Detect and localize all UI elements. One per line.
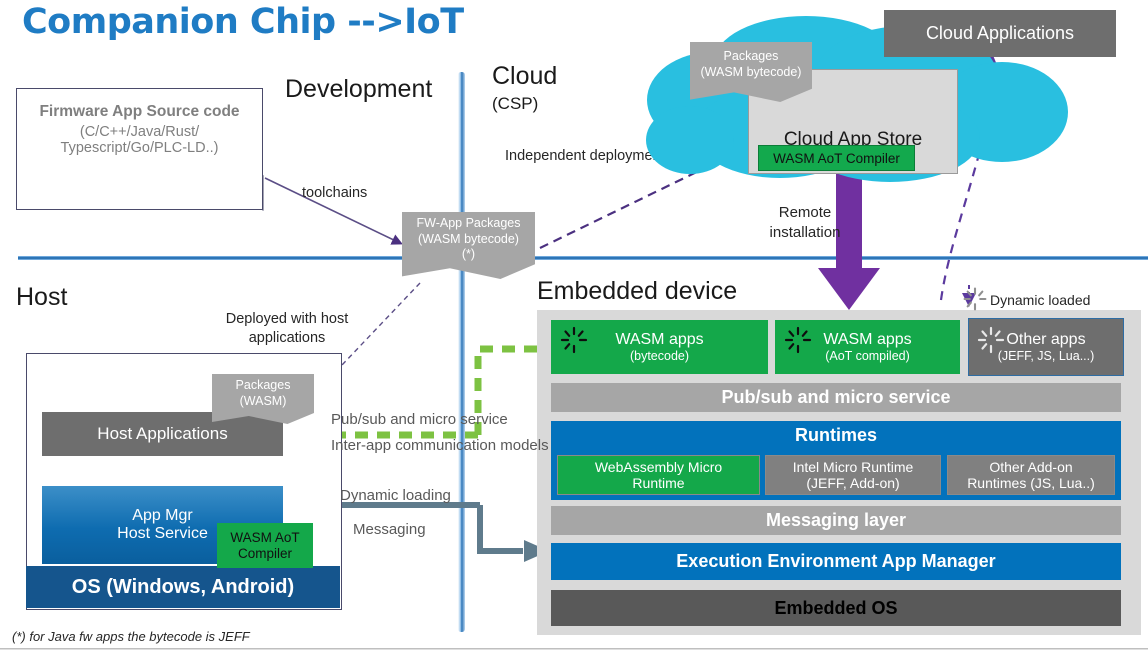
runtime-webassembly-micro-line2: Runtime: [632, 475, 684, 491]
cloud-applications-box[interactable]: Cloud Applications: [884, 10, 1116, 57]
spinner-icon: [783, 325, 813, 355]
label-deployed-with-host-applications: Deployed with host applications: [218, 310, 356, 348]
host-wasm-aot-compiler-line2: Compiler: [238, 546, 292, 562]
fw-packages-line1: FW-App Packages: [417, 216, 521, 232]
runtime-intel-micro[interactable]: Intel Micro Runtime (JEFF, Add-on): [765, 455, 941, 495]
runtime-other-addon[interactable]: Other Add-on Runtimes (JS, Lua..): [947, 455, 1115, 495]
legend-dynamic-loaded: Dynamic loaded: [990, 292, 1090, 308]
firmware-source-line2: Typescript/Go/PLC-LD..): [61, 140, 219, 156]
embedded-os-bar[interactable]: Embedded OS: [551, 590, 1121, 626]
embedded-runtimes-title: Runtimes: [795, 425, 877, 446]
host-wasm-aot-compiler-box[interactable]: WASM AoT Compiler: [217, 523, 313, 568]
section-heading-embedded-device: Embedded device: [537, 277, 737, 306]
host-packages-line2: (WASM): [236, 394, 291, 410]
fw-app-packages-callout[interactable]: FW-App Packages (WASM bytecode) (*): [402, 212, 535, 279]
embedded-pubsub-bar[interactable]: Pub/sub and micro service: [551, 383, 1121, 412]
label-independent-deployment: Independent deployment: [505, 148, 665, 164]
embedded-execution-env-app-manager-bar[interactable]: Execution Environment App Manager: [551, 543, 1121, 580]
slide-canvas: Companion Chip -->IoT: [0, 0, 1148, 653]
spinner-icon: [962, 286, 988, 312]
embedded-app-wasm-bytecode-sub: (bytecode): [630, 349, 689, 363]
page-title: Companion Chip -->IoT: [22, 2, 464, 42]
host-wasm-aot-compiler-line1: WASM AoT: [230, 530, 299, 546]
firmware-source-line1: (C/C++/Java/Rust/: [80, 124, 199, 140]
label-dynamic-loading: Dynamic loading: [340, 487, 451, 504]
runtime-intel-micro-line2: (JEFF, Add-on): [806, 475, 899, 491]
fw-packages-line2: (WASM bytecode): [417, 232, 521, 248]
label-messaging: Messaging: [353, 521, 426, 538]
section-heading-development: Development: [285, 75, 432, 104]
cloud-wasm-aot-compiler-label: WASM AoT Compiler: [773, 151, 900, 166]
host-app-manager-line1: App Mgr: [132, 507, 192, 525]
runtime-webassembly-micro[interactable]: WebAssembly Micro Runtime: [557, 455, 760, 495]
runtime-other-addon-line2: Runtimes (JS, Lua..): [967, 475, 1095, 491]
host-app-manager-line2: Host Service: [117, 525, 208, 543]
host-os-bar[interactable]: OS (Windows, Android): [26, 566, 340, 608]
runtime-other-addon-line1: Other Add-on: [989, 459, 1072, 475]
host-packages-line1: Packages: [236, 378, 291, 394]
label-inter-app-communication-models: Inter-app communication models: [331, 437, 549, 454]
embedded-app-other-sub: (JEFF, JS, Lua...): [998, 349, 1095, 363]
cloud-wasm-aot-compiler-box[interactable]: WASM AoT Compiler: [758, 145, 915, 171]
label-toolchains: toolchains: [302, 185, 367, 201]
cloud-packages-line1: Packages: [701, 49, 802, 65]
firmware-source-title: Firmware App Source code: [39, 103, 239, 121]
embedded-app-wasm-aot-name: WASM apps: [823, 331, 911, 349]
section-subheading-csp: (CSP): [492, 94, 538, 114]
label-remote-installation: Remote installation: [769, 203, 841, 242]
spinner-icon: [559, 325, 589, 355]
embedded-app-wasm-aot-sub: (AoT compiled): [825, 349, 910, 363]
host-packages-callout[interactable]: Packages (WASM): [212, 374, 314, 424]
runtime-webassembly-micro-line1: WebAssembly Micro: [595, 459, 722, 475]
embedded-app-other-name: Other apps: [1006, 331, 1085, 349]
spinner-icon: [976, 325, 1006, 355]
section-heading-cloud: Cloud: [492, 62, 557, 91]
label-pubsub-micro-service: Pub/sub and micro service: [331, 411, 508, 428]
footnote: (*) for Java fw apps the bytecode is JEF…: [12, 629, 250, 644]
embedded-app-wasm-bytecode-name: WASM apps: [615, 331, 703, 349]
section-heading-host: Host: [16, 283, 67, 312]
embedded-messaging-layer-bar[interactable]: Messaging layer: [551, 506, 1121, 535]
runtime-intel-micro-line1: Intel Micro Runtime: [793, 459, 914, 475]
cloud-packages-line2: (WASM bytecode): [701, 65, 802, 81]
fw-packages-line3: (*): [417, 247, 521, 263]
firmware-source-box[interactable]: Firmware App Source code (C/C++/Java/Rus…: [16, 88, 263, 210]
cloud-packages-callout[interactable]: Packages (WASM bytecode): [690, 42, 812, 102]
